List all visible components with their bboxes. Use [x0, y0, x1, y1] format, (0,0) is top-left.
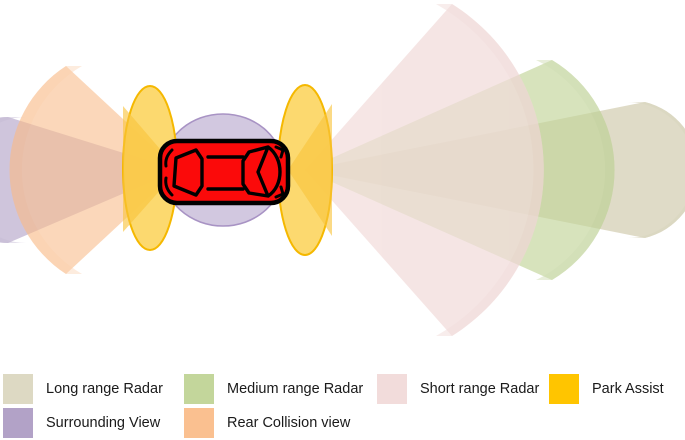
legend-label-park-assist: Park Assist	[592, 382, 664, 397]
swatch-medium-range-radar	[184, 374, 214, 404]
sensor-coverage-svg	[0, 0, 685, 368]
legend-item-short-range-radar[interactable]: Short range Radar	[377, 373, 539, 405]
legend-label-long-range-radar: Long range Radar	[46, 382, 163, 397]
swatch-rear-collision-view	[184, 408, 214, 438]
adas-sensor-coverage-diagram: Long range Radar Medium range Radar Shor…	[0, 0, 685, 440]
sensor-coverage-stage	[0, 0, 685, 368]
legend: Long range Radar Medium range Radar Shor…	[0, 368, 685, 440]
legend-item-medium-range-radar[interactable]: Medium range Radar	[184, 373, 363, 405]
legend-label-medium-range-radar: Medium range Radar	[227, 382, 363, 397]
short-range-radar-body	[305, 4, 544, 336]
swatch-park-assist	[549, 374, 579, 404]
front-sensor-cones	[305, 4, 685, 336]
legend-row-2: Surrounding View Rear Collision view	[0, 406, 685, 440]
legend-row-1: Long range Radar Medium range Radar Shor…	[0, 372, 685, 406]
legend-item-park-assist[interactable]: Park Assist	[549, 373, 664, 405]
short-range-radar-cone	[305, 4, 544, 336]
swatch-short-range-radar	[377, 374, 407, 404]
legend-item-rear-collision-view[interactable]: Rear Collision view	[184, 407, 350, 439]
legend-item-surrounding-view[interactable]: Surrounding View	[3, 407, 160, 439]
legend-label-short-range-radar: Short range Radar	[420, 382, 539, 397]
swatch-surrounding-view	[3, 408, 33, 438]
legend-label-rear-collision-view: Rear Collision view	[227, 416, 350, 431]
legend-item-long-range-radar[interactable]: Long range Radar	[3, 373, 163, 405]
swatch-long-range-radar	[3, 374, 33, 404]
legend-label-surrounding-view: Surrounding View	[46, 416, 160, 431]
vehicle-top-view	[160, 141, 288, 203]
